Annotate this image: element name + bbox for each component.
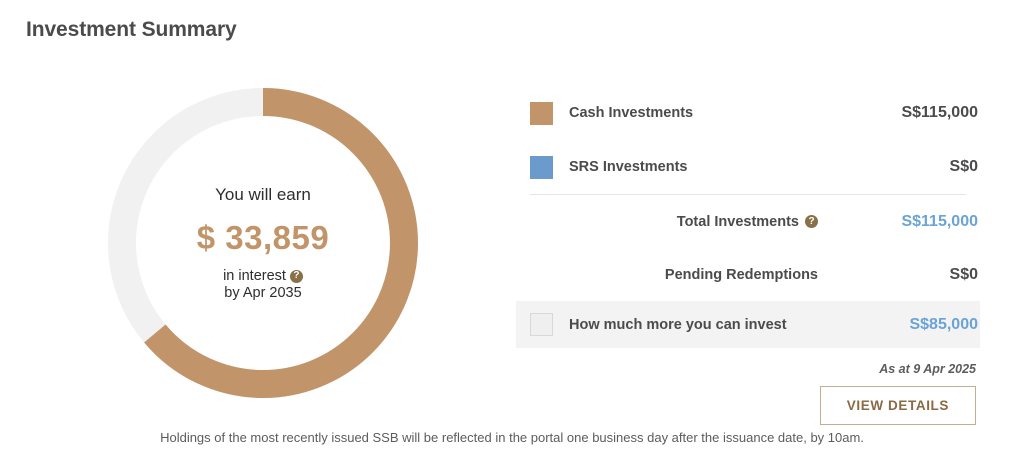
invest-more-label: How much more you can invest bbox=[569, 317, 909, 333]
invest-more-value: S$85,000 bbox=[909, 316, 980, 334]
page-title: Investment Summary bbox=[26, 18, 237, 42]
total-row-total-investments: Total Investments ? S$115,000 bbox=[516, 195, 980, 248]
question-mark-icon[interactable]: ? bbox=[805, 215, 818, 228]
donut-caption: You will earn bbox=[215, 185, 311, 205]
as-at-date: As at 9 Apr 2025 bbox=[516, 362, 980, 376]
legend-row-cash: Cash Investments S$115,000 bbox=[516, 86, 980, 140]
total-label-total-investments-text: Total Investments bbox=[677, 214, 799, 230]
total-value-total-investments: S$115,000 bbox=[818, 213, 980, 231]
donut-subtext-interest: in interest ? bbox=[223, 268, 303, 285]
view-details-button[interactable]: VIEW DETAILS bbox=[820, 386, 976, 425]
legend-label-cash: Cash Investments bbox=[569, 105, 901, 121]
srs-swatch-icon bbox=[530, 156, 553, 179]
total-row-pending-redemptions: Pending Redemptions S$0 bbox=[516, 248, 980, 301]
donut-center-text: You will earn $ 33,859 in interest ? by … bbox=[108, 88, 418, 398]
empty-swatch-icon bbox=[530, 313, 553, 336]
total-label-total-investments: Total Investments ? bbox=[516, 214, 818, 230]
view-details-button-wrap: VIEW DETAILS bbox=[516, 386, 980, 425]
donut-subtext-interest-label: in interest bbox=[223, 268, 286, 285]
donut-amount: $ 33,859 bbox=[197, 219, 329, 257]
total-value-pending-redemptions: S$0 bbox=[818, 266, 980, 284]
legend-label-srs: SRS Investments bbox=[569, 159, 950, 175]
question-mark-icon[interactable]: ? bbox=[290, 270, 303, 283]
donut-subtext-maturity: by Apr 2035 bbox=[224, 285, 301, 302]
cash-swatch-icon bbox=[530, 102, 553, 125]
legend-row-srs: SRS Investments S$0 bbox=[516, 140, 980, 194]
investment-donut-chart: You will earn $ 33,859 in interest ? by … bbox=[108, 88, 418, 398]
invest-more-row: How much more you can invest S$85,000 bbox=[516, 301, 980, 348]
total-label-pending-redemptions: Pending Redemptions bbox=[516, 267, 818, 283]
legend-value-srs: S$0 bbox=[950, 158, 980, 176]
total-label-pending-redemptions-text: Pending Redemptions bbox=[665, 267, 818, 283]
legend-value-cash: S$115,000 bbox=[901, 104, 980, 122]
footer-note: Holdings of the most recently issued SSB… bbox=[0, 430, 1024, 445]
investment-breakdown-panel: Cash Investments S$115,000 SRS Investmen… bbox=[516, 86, 980, 425]
